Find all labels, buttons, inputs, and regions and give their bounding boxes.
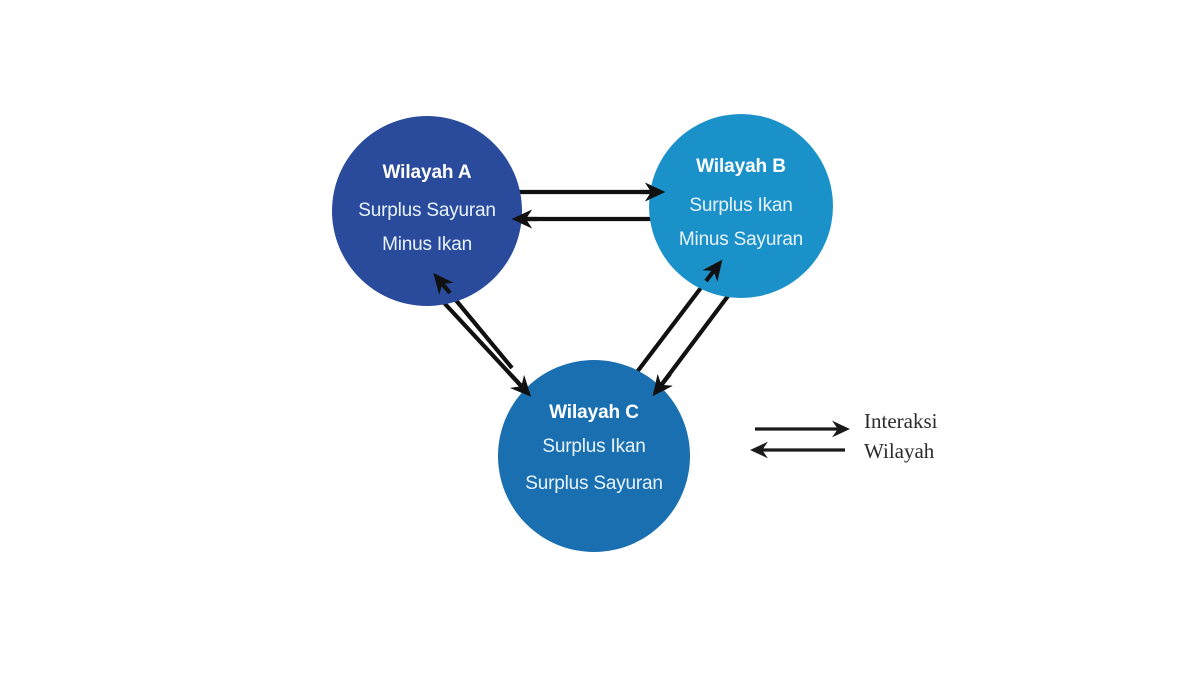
node-wilayah-c[interactable]: Wilayah C Surplus Ikan Surplus Sayuran: [498, 360, 690, 552]
node-wilayah-c-line2: Surplus Sayuran: [525, 473, 662, 494]
node-wilayah-b-line1: Surplus Ikan: [689, 195, 792, 216]
legend-label-line1: Interaksi: [864, 409, 938, 433]
node-wilayah-b[interactable]: Wilayah B Surplus Ikan Minus Sayuran: [649, 114, 833, 298]
node-wilayah-c-line1: Surplus Ikan: [542, 436, 645, 457]
arrowhead-into-c-right: [659, 374, 670, 388]
node-wilayah-b-line2: Minus Sayuran: [679, 229, 803, 250]
bidirectional-arrow-icon: [755, 429, 845, 450]
legend-label-line2: Wilayah: [864, 439, 935, 463]
arrow-a-to-c: [434, 292, 524, 389]
node-wilayah-a-line2: Minus Ikan: [382, 234, 472, 255]
node-wilayah-b-title: Wilayah B: [696, 156, 786, 177]
region-interaction-diagram: Wilayah A Surplus Sayuran Minus Ikan Wil…: [0, 0, 1200, 675]
arrow-b-to-c: [659, 292, 731, 388]
diagram-canvas: Wilayah A Surplus Sayuran Minus Ikan Wil…: [0, 0, 1200, 675]
arrowhead-into-c-left: [512, 376, 524, 389]
node-wilayah-a[interactable]: Wilayah A Surplus Sayuran Minus Ikan: [332, 116, 522, 306]
legend: Interaksi Wilayah: [755, 409, 938, 463]
node-wilayah-c-title: Wilayah C: [549, 402, 639, 423]
node-wilayah-a-line1: Surplus Sayuran: [358, 200, 495, 221]
node-wilayah-a-title: Wilayah A: [382, 162, 471, 183]
